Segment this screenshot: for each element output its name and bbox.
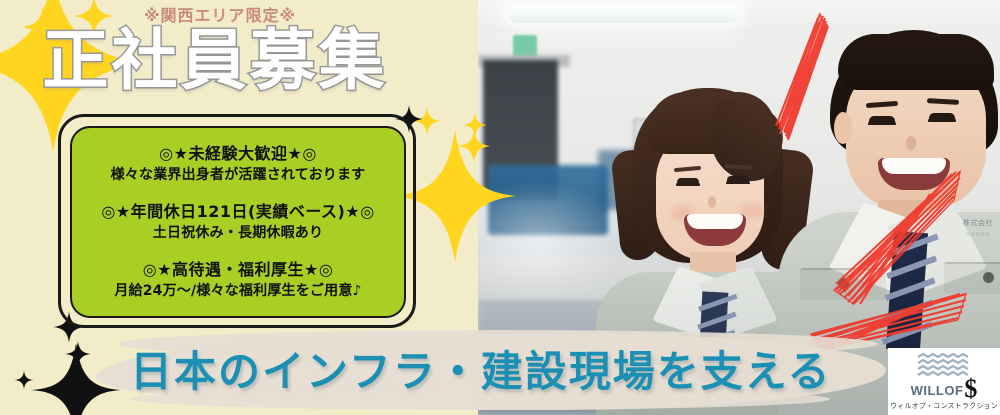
sparkle-black-small-c	[14, 370, 34, 390]
sparkle-yellow-small-g	[416, 180, 450, 214]
page-title: 正社員募集	[0, 24, 430, 98]
logo-symbol: $	[964, 379, 977, 399]
censor-scribble-top	[774, 12, 840, 142]
highlight-head: ◎★未経験大歓迎★◎	[111, 143, 366, 165]
highlight-head: ◎★年間休日121日(実績ベース)★◎	[101, 201, 374, 223]
highlight-sub: 月給24万〜/様々な福利厚生をご用意♪	[114, 281, 361, 301]
highlight-head: ◎★高待遇・福利厚生★◎	[114, 259, 361, 281]
highlight-sub: 土日祝休み・長期休暇あり	[101, 223, 374, 243]
company-logo: WILLOF $ ウィルオブ・コンストラクション	[888, 348, 1000, 415]
logo-subtitle: ウィルオブ・コンストラクション	[890, 401, 998, 411]
sparkle-yellow-small-f	[456, 128, 492, 164]
highlight-sub: 様々な業界出身者が活躍されております	[111, 165, 366, 185]
highlight-item: ◎★高待遇・福利厚生★◎ 月給24万〜/様々な福利厚生をご用意♪	[114, 259, 361, 301]
highlight-box: ◎★未経験大歓迎★◎ 様々な業界出身者が活躍されております ◎★年間休日121日…	[70, 126, 406, 318]
tagline-text: 日本のインフラ・建設現場を支える	[130, 344, 890, 400]
logo-wordmark: WILLOF	[911, 384, 964, 397]
highlight-item: ◎★未経験大歓迎★◎ 様々な業界出身者が活躍されております	[111, 143, 366, 185]
logo-wordmark-row: WILLOF $	[911, 377, 978, 397]
job-ad-banner: 株式会社○○○○○	[0, 0, 1000, 415]
highlight-item: ◎★年間休日121日(実績ベース)★◎ 土日祝休み・長期休暇あり	[101, 201, 374, 243]
censor-scribble-middle	[830, 168, 966, 306]
sparkle-black-small-b	[64, 340, 92, 368]
